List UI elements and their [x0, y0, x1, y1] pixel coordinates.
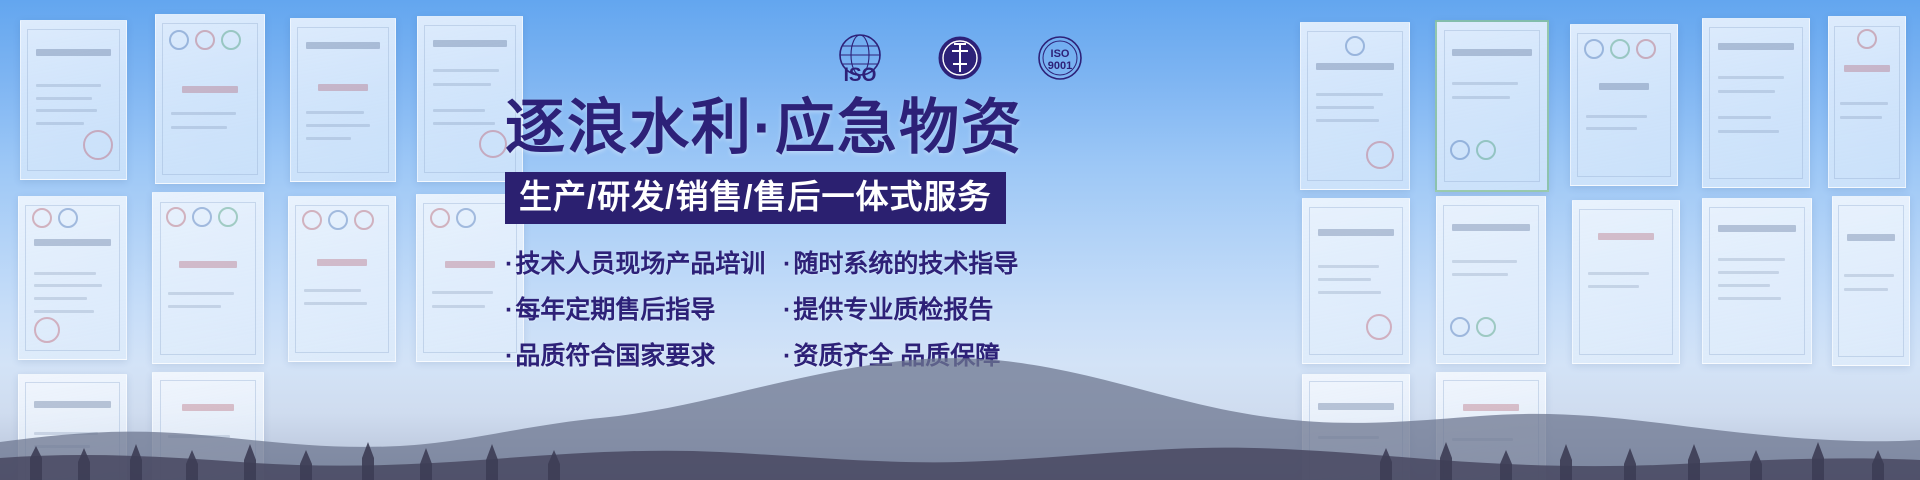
feature-label: 每年定期售后指导 [515, 296, 715, 324]
svg-text:9001: 9001 [1048, 60, 1072, 72]
iso-globe-badge: ISO [832, 31, 888, 87]
subtitle-band: 生产/研发/销售/售后一体式服务 [505, 172, 1006, 224]
feature-label: 技术人员现场产品培训 [515, 250, 765, 278]
feature-item: ·每年定期售后指导 [505, 296, 783, 324]
subtitle-text: 生产/研发/销售/售后一体式服务 [519, 179, 992, 215]
bullet-icon: · [783, 296, 791, 324]
feature-row: ·技术人员现场产品培训 ·随时系统的技术指导 [505, 250, 1085, 278]
bullet-icon: · [505, 250, 513, 278]
feature-label: 随时系统的技术指导 [793, 250, 1018, 278]
svg-text:ISO: ISO [1051, 48, 1070, 60]
iso-9001-badge: ISO 9001 [1032, 31, 1088, 87]
feature-label: 提供专业质检报告 [793, 296, 993, 324]
svg-text:ISO: ISO [844, 65, 877, 86]
page-title: 逐浪水利·应急物资 [505, 96, 1085, 160]
bullet-icon: · [505, 296, 513, 324]
certification-badge-row: ISO ISO 9001 [0, 30, 1920, 88]
feature-item: ·技术人员现场产品培训 [505, 250, 783, 278]
bullet-icon: · [783, 250, 791, 278]
feature-item: ·提供专业质检报告 [783, 296, 1061, 324]
promo-banner: ISO ISO 9001 逐浪水利·应急物资 生产/研发/销售/售后一 [0, 0, 1920, 480]
mountain-forest-silhouette [0, 330, 1920, 480]
feature-row: ·每年定期售后指导 ·提供专业质检报告 [505, 296, 1085, 324]
feature-item: ·随时系统的技术指导 [783, 250, 1061, 278]
quality-emblem-badge [932, 31, 988, 87]
